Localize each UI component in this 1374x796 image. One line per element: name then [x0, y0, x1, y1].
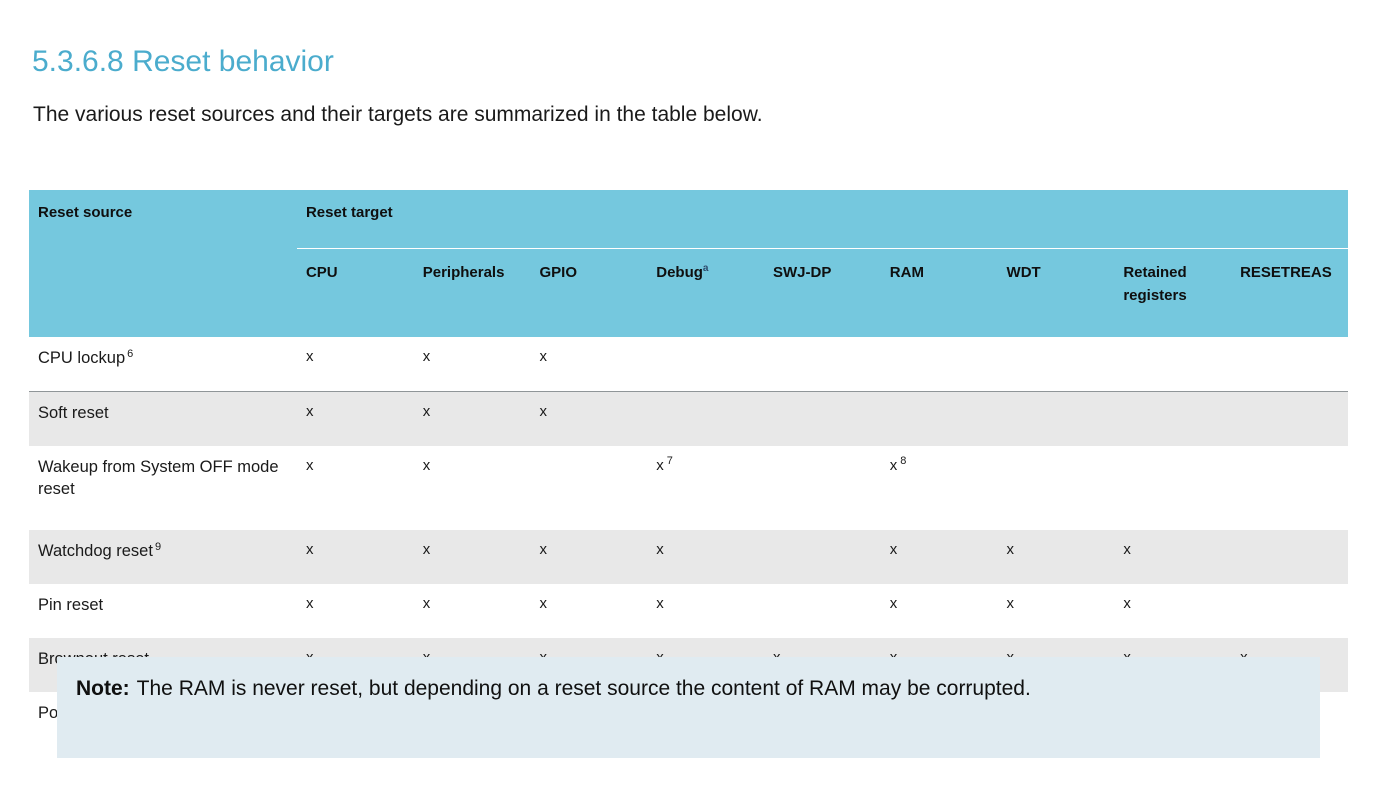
row-header-reset-source: Watchdog reset9	[29, 530, 297, 584]
column-group-reset-target: Reset target	[297, 190, 1348, 249]
cell-mark: x	[1007, 541, 1015, 558]
table-cell: x	[530, 337, 647, 392]
table-cell	[998, 337, 1115, 392]
table-cell: x	[414, 530, 531, 584]
table-header-group-row: Reset source Reset target	[29, 190, 1348, 249]
table-cell	[1231, 446, 1348, 530]
table-cell	[998, 446, 1115, 530]
note-label: Note:	[76, 677, 130, 700]
column-header-label: SWJ-DP	[773, 264, 831, 281]
column-header-peripherals: Peripherals	[414, 249, 531, 338]
table-cell	[764, 530, 881, 584]
column-header-blank	[29, 249, 297, 338]
cell-mark: x	[539, 541, 547, 558]
cell-mark: x	[656, 541, 664, 558]
footnote-marker: 9	[153, 541, 161, 553]
table-cell	[530, 446, 647, 530]
row-header-reset-source: Wakeup from System OFF mode reset	[29, 446, 297, 530]
column-header-resetreas: RESETREAS	[1231, 249, 1348, 338]
cell-mark: x	[1123, 595, 1131, 612]
cell-mark: x	[539, 595, 547, 612]
page-title: 5.3.6.8 Reset behavior	[32, 44, 334, 80]
reset-source-label: Watchdog reset	[38, 542, 153, 560]
note-body: The RAM is never reset, but depending on…	[137, 677, 1031, 700]
table-cell: x	[1114, 530, 1231, 584]
footnote-marker: 8	[897, 455, 906, 467]
cell-mark: x	[423, 595, 431, 612]
footnote-marker-a: a	[703, 263, 709, 274]
cell-mark: x	[1123, 541, 1131, 558]
column-header-debug: Debuga	[647, 249, 764, 338]
table-cell: x	[297, 584, 414, 638]
table-cell	[1231, 392, 1348, 447]
table-cell	[1114, 446, 1231, 530]
cell-mark: x	[423, 457, 431, 474]
cell-mark: x	[306, 457, 314, 474]
table-header: Reset source Reset target CPU Peripheral…	[29, 190, 1348, 337]
table-cell: x	[530, 392, 647, 447]
cell-mark: x	[539, 348, 547, 365]
table-cell	[881, 392, 998, 447]
table-cell: x	[881, 530, 998, 584]
table-cell	[764, 446, 881, 530]
cell-mark: x	[656, 595, 664, 612]
row-header-reset-source: Pin reset	[29, 584, 297, 638]
column-header-label: CPU	[306, 264, 338, 281]
reset-source-label: CPU lockup	[38, 349, 125, 367]
table-cell: x	[297, 337, 414, 392]
table-cell: x	[297, 392, 414, 447]
column-header-label: WDT	[1007, 264, 1041, 281]
table-cell: x	[414, 584, 531, 638]
column-header-retained-registers: Retained registers	[1114, 249, 1231, 338]
table-cell	[998, 392, 1115, 447]
table-cell: x	[881, 584, 998, 638]
table-cell	[764, 584, 881, 638]
table-cell	[1114, 337, 1231, 392]
table-cell	[764, 392, 881, 447]
table-cell	[764, 337, 881, 392]
cell-mark: x	[890, 595, 898, 612]
cell-mark: x	[423, 403, 431, 420]
table-cell: x7	[647, 446, 764, 530]
column-header-swj-dp: SWJ-DP	[764, 249, 881, 338]
table-cell: x	[297, 530, 414, 584]
table-cell: x	[998, 584, 1115, 638]
column-header-label: Peripherals	[423, 264, 505, 281]
reset-source-label: Pin reset	[38, 596, 103, 614]
table-cell: x	[530, 530, 647, 584]
table-row: Soft resetxxx	[29, 392, 1348, 447]
table-cell: x	[998, 530, 1115, 584]
table-cell: x	[297, 446, 414, 530]
table-cell: x	[414, 337, 531, 392]
column-header-label: Retained registers	[1123, 264, 1186, 304]
column-header-cpu: CPU	[297, 249, 414, 338]
table-cell	[1231, 337, 1348, 392]
table-row: Wakeup from System OFF mode resetxxx7x8	[29, 446, 1348, 530]
table-cell: x	[414, 392, 531, 447]
table-cell	[647, 337, 764, 392]
cell-mark: x	[423, 348, 431, 365]
footnote-marker: 7	[664, 455, 673, 467]
table-cell: x	[647, 584, 764, 638]
cell-mark: x	[539, 403, 547, 420]
column-header-ram: RAM	[881, 249, 998, 338]
column-header-label: RAM	[890, 264, 924, 281]
row-header-reset-source: CPU lockup6	[29, 337, 297, 392]
table-header-columns-row: CPU Peripherals GPIO Debuga SWJ-DP RAM W…	[29, 249, 1348, 338]
table-cell: x	[414, 446, 531, 530]
table-cell	[647, 392, 764, 447]
footnote-marker: 6	[125, 348, 133, 360]
table-cell: x	[530, 584, 647, 638]
cell-mark: x	[306, 348, 314, 365]
table-row: Pin resetxxxxxxx	[29, 584, 1348, 638]
document-page: 5.3.6.8 Reset behavior The various reset…	[0, 0, 1374, 796]
column-header-label: GPIO	[539, 264, 577, 281]
cell-mark: x	[306, 403, 314, 420]
table-cell: x	[647, 530, 764, 584]
cell-mark: x	[890, 541, 898, 558]
reset-source-label: Soft reset	[38, 404, 109, 422]
cell-mark: x	[306, 595, 314, 612]
table-cell	[881, 337, 998, 392]
note-callout: Note:The RAM is never reset, but dependi…	[57, 657, 1320, 758]
cell-mark: x	[656, 457, 664, 474]
column-header-label: RESETREAS	[1240, 264, 1332, 281]
reset-source-label: Wakeup from System OFF mode reset	[38, 458, 279, 498]
intro-paragraph: The various reset sources and their targ…	[33, 102, 763, 128]
table-cell	[1231, 530, 1348, 584]
note-text: Note:The RAM is never reset, but dependi…	[76, 675, 1300, 704]
column-group-reset-source: Reset source	[29, 190, 297, 249]
cell-mark: x	[1007, 595, 1015, 612]
table-cell	[1114, 392, 1231, 447]
table-cell	[1231, 584, 1348, 638]
column-header-gpio: GPIO	[530, 249, 647, 338]
cell-mark: x	[423, 541, 431, 558]
cell-mark: x	[306, 541, 314, 558]
column-header-label: Debug	[656, 264, 703, 281]
table-row: CPU lockup6xxx	[29, 337, 1348, 392]
table-cell: x8	[881, 446, 998, 530]
table-cell: x	[1114, 584, 1231, 638]
row-header-reset-source: Soft reset	[29, 392, 297, 447]
table-row: Watchdog reset9xxxxxxx	[29, 530, 1348, 584]
column-header-wdt: WDT	[998, 249, 1115, 338]
